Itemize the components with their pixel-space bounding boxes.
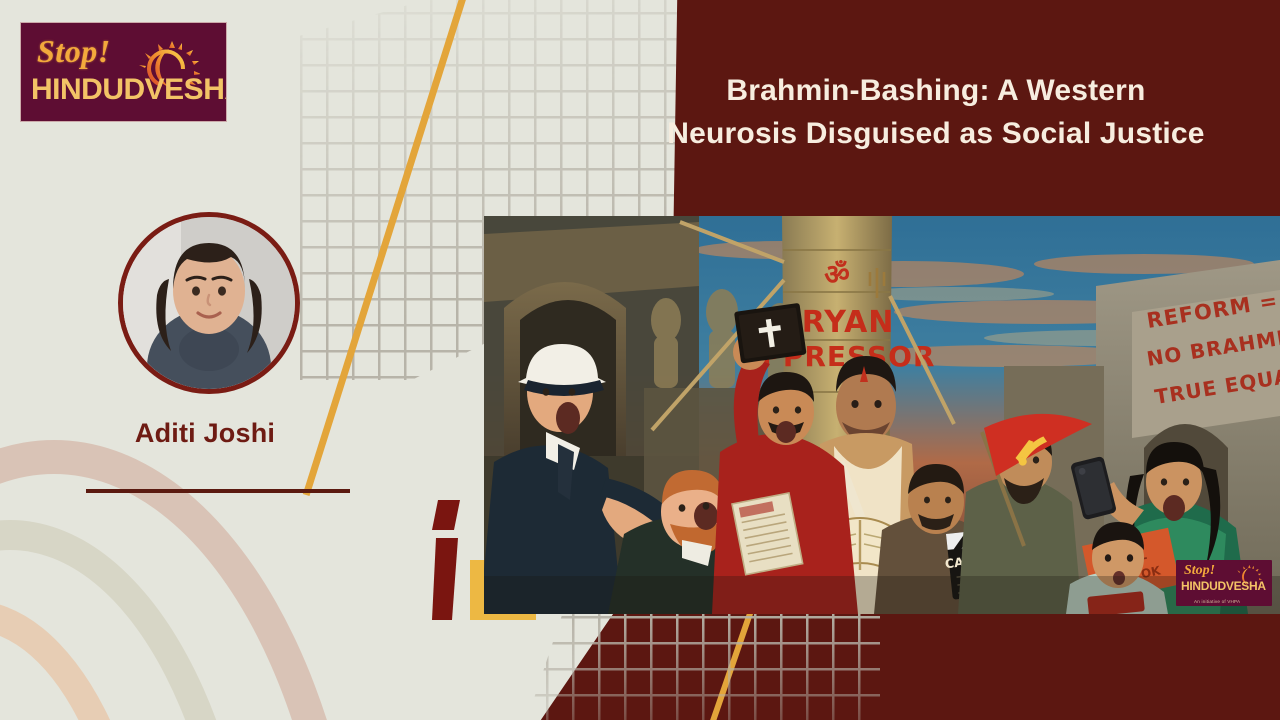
illustration-watermark-logo: Stop! HINDUDVESHA An initiative of VHPA (1176, 560, 1272, 606)
page-title-line2: Neurosis Disguised as Social Justice (600, 113, 1272, 156)
author-name: Aditi Joshi (0, 418, 410, 449)
logo-stop-text: Stop! (37, 33, 111, 70)
watermark-subtitle: An initiative of VHPA (1194, 599, 1240, 604)
logo-wordmark: HINDUDVESHA (31, 73, 227, 107)
page-title: Brahmin-Bashing: A Western Neurosis Disg… (600, 70, 1272, 155)
watermark-stop-text: Stop! (1184, 563, 1215, 579)
author-divider (86, 489, 350, 493)
wave-bands-decoration (0, 410, 400, 720)
slide-canvas: Stop! HINDUDVESHA Brahmin-Bashin (0, 0, 1280, 720)
watermark-wordmark: HINDUDVESHA (1181, 579, 1266, 593)
author-avatar (118, 212, 300, 394)
article-illustration[interactable]: REFORM = ERASE NO BRAHMINS' TRUE EQUALIT… (484, 216, 1280, 614)
maroon-accent-bar-icon (432, 500, 462, 620)
svg-text:ॐ: ॐ (824, 258, 850, 291)
brand-logo[interactable]: Stop! HINDUDVESHA (20, 22, 227, 122)
page-title-line1: Brahmin-Bashing: A Western (600, 70, 1272, 113)
illustration-art: REFORM = ERASE NO BRAHMINS' TRUE EQUALIT… (484, 216, 1280, 614)
author-portrait-icon (123, 217, 295, 389)
